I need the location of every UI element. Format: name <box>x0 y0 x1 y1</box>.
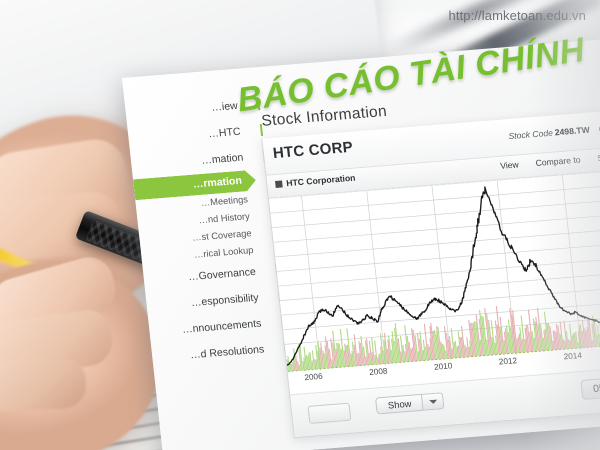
screenshot-stage: …iew …HTC …mation …rmation …Meetings …nd… <box>0 0 600 450</box>
sidebar-item-label: …nd History <box>198 211 250 225</box>
legend-label: HTC Corporation <box>286 173 356 188</box>
range-control-stub[interactable] <box>308 403 352 424</box>
legend-swatch-icon <box>275 180 283 188</box>
sidebar-item-label: …iew <box>211 100 238 114</box>
watermark-url: http://lamketoan.edu.vn <box>449 8 586 23</box>
sidebar-item-label: …rical Lookup <box>194 245 254 260</box>
stock-card: HTC CORP Stock Code2498.TWCurrency NT HT… <box>261 107 600 438</box>
sidebar-item-label: …mation <box>201 152 244 167</box>
sidebar-item-label: …Governance <box>188 266 257 283</box>
sidebar-item-label: …st Coverage <box>192 228 252 243</box>
chevron-down-icon[interactable] <box>422 392 445 411</box>
date-field[interactable]: 05 / 06 / 2015 <box>580 373 600 400</box>
sidebar-item-label: …HTC <box>208 126 241 141</box>
x-tick: 2014 <box>563 351 582 361</box>
stock-code-block: Stock Code2498.TWCurrency NT <box>508 120 600 141</box>
sidebar-item-label: …nnouncements <box>182 318 262 336</box>
menu-item-view[interactable]: View <box>500 159 520 170</box>
show-button[interactable]: Show <box>375 394 424 415</box>
finger-lower-3 <box>0 358 87 412</box>
x-tick: 2010 <box>434 361 453 371</box>
x-tick: 2012 <box>498 356 517 366</box>
company-name: HTC CORP <box>272 139 354 162</box>
show-dropdown[interactable]: Show <box>375 392 445 414</box>
x-tick: 2008 <box>369 367 388 377</box>
sidebar-item-label: …rmation <box>192 175 242 191</box>
stock-chart[interactable]: NTD 1,100.00 1,000.00 900.00 800.00 700.… <box>269 167 600 395</box>
chart-plot-area <box>269 171 600 373</box>
chart-canvas <box>269 171 600 373</box>
stock-code-label: Stock Code <box>508 128 553 142</box>
sidebar-item-label: …esponsibility <box>190 292 259 309</box>
stock-code-value: 2498.TW <box>554 125 590 138</box>
sidebar-item-label: …Meetings <box>200 194 248 208</box>
x-tick: 2006 <box>304 372 323 382</box>
chart-legend: HTC Corporation <box>275 173 356 189</box>
menu-item-compare-to[interactable]: Compare to <box>535 154 581 168</box>
sidebar-item-label: …d Resolutions <box>190 343 265 361</box>
